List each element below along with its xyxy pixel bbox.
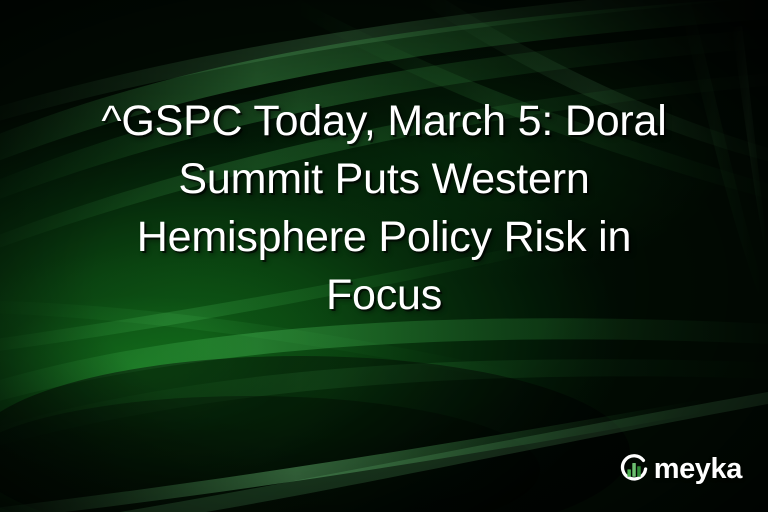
article-share-banner: ^GSPC Today, March 5: Doral Summit Puts … xyxy=(0,0,768,512)
meyka-logo[interactable]: meyka xyxy=(617,452,742,486)
meyka-circle-barchart-icon xyxy=(617,452,651,486)
page-title: ^GSPC Today, March 5: Doral Summit Puts … xyxy=(38,92,730,324)
headline-container: ^GSPC Today, March 5: Doral Summit Puts … xyxy=(0,92,768,324)
meyka-wordmark: meyka xyxy=(654,455,742,484)
